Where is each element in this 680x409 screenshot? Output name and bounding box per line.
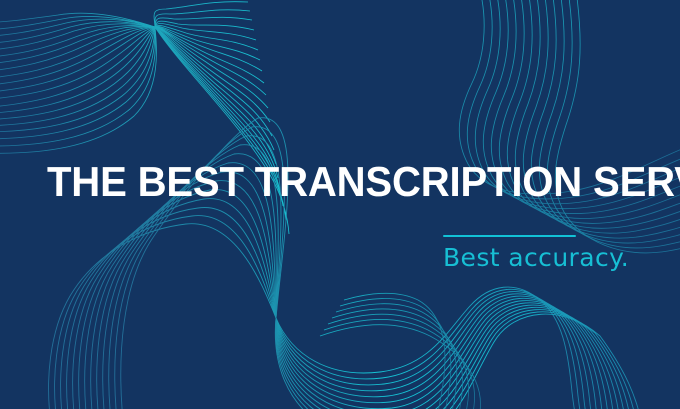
tagline: Best accuracy. <box>443 243 629 273</box>
divider-rule <box>443 235 576 237</box>
promo-banner: THE BEST TRANSCRIPTION SERVICE Best accu… <box>0 0 680 409</box>
text-content: THE BEST TRANSCRIPTION SERVICE Best accu… <box>0 0 680 409</box>
page-title: THE BEST TRANSCRIPTION SERVICE <box>47 160 620 204</box>
